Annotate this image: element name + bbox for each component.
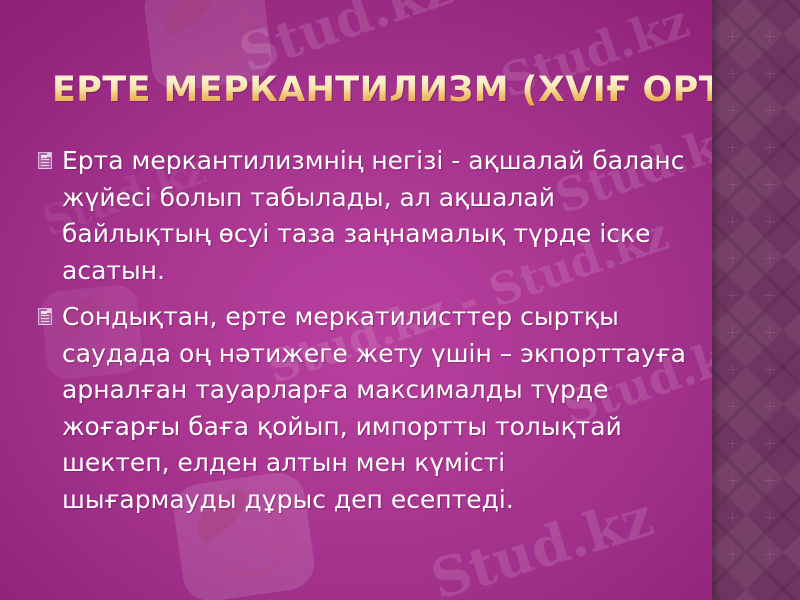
fleur-icon (727, 216, 738, 227)
fleur-icon (727, 438, 738, 449)
fleur-icon (727, 290, 738, 301)
fleur-icon (764, 253, 775, 264)
fleur-icon (764, 68, 775, 79)
page-title: Ерте меркантилизм (XVIҒ орт) (52, 68, 712, 112)
slide-canvas: Stud.kz Stud.kz Stud.kz - Stud.kz Stud.k… (0, 0, 800, 600)
fleur-icon (727, 475, 738, 486)
fleur-icon (764, 142, 775, 153)
fleur-icon (727, 68, 738, 79)
fleur-icon (727, 512, 738, 523)
fleur-icon (764, 179, 775, 190)
fleur-icon (764, 216, 775, 227)
fleur-grid (712, 0, 800, 600)
bullet-text: Ерта меркантилизмнің негізі - ақшалай ба… (62, 143, 686, 289)
fleur-icon (764, 401, 775, 412)
fleur-icon (764, 31, 775, 42)
fleur-icon (727, 364, 738, 375)
fleur-icon (727, 327, 738, 338)
fleur-icon (727, 549, 738, 560)
list-item: Сондықтан, ерте меркатилисттер сыртқы са… (38, 299, 686, 518)
fleur-icon (727, 253, 738, 264)
fleur-icon (727, 179, 738, 190)
fleur-icon (727, 401, 738, 412)
decorative-right-panel (712, 0, 800, 600)
bullet-list: Ерта меркантилизмнің негізі - ақшалай ба… (38, 143, 686, 528)
bullet-text: Сондықтан, ерте меркатилисттер сыртқы са… (62, 299, 686, 518)
document-bullet-icon (38, 152, 52, 169)
fleur-icon (727, 105, 738, 116)
fleur-icon (727, 31, 738, 42)
fleur-icon (727, 142, 738, 153)
document-bullet-icon (38, 308, 52, 325)
list-item: Ерта меркантилизмнің негізі - ақшалай ба… (38, 143, 686, 289)
fleur-icon (764, 438, 775, 449)
fleur-icon (764, 327, 775, 338)
fleur-icon (764, 290, 775, 301)
fleur-icon (764, 105, 775, 116)
fleur-icon (764, 549, 775, 560)
fleur-icon (764, 364, 775, 375)
fleur-icon (764, 512, 775, 523)
fleur-icon (764, 475, 775, 486)
panel-edge-shadow (712, 0, 720, 600)
